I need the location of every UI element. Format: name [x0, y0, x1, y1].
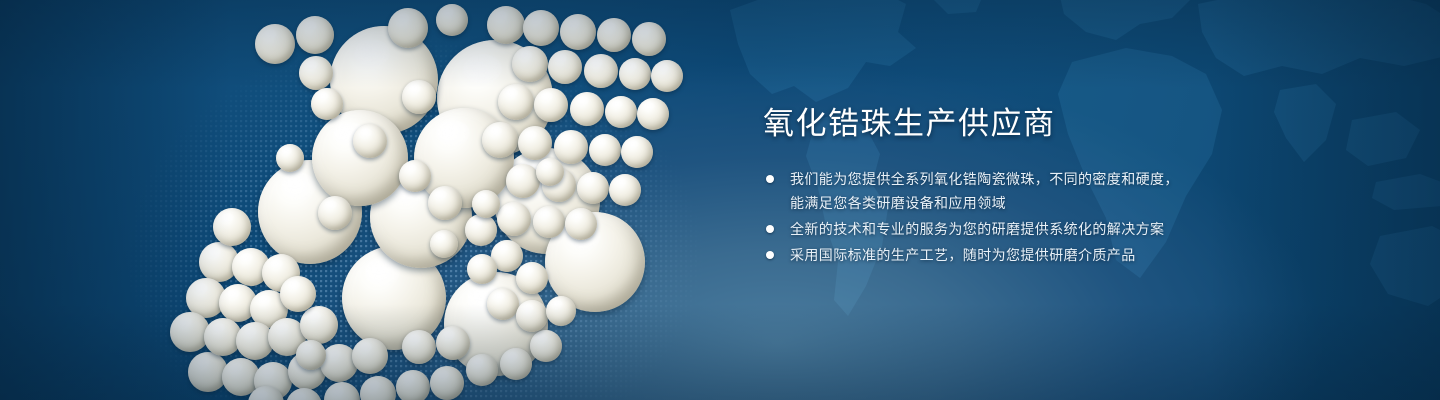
hero-banner: 氧化锆珠生产供应商 我们能为您提供全系列氧化锆陶瓷微珠，不同的密度和硬度，能满足… — [0, 0, 1440, 400]
bullet-dot-icon — [766, 251, 774, 259]
bullet-dot-icon — [766, 175, 774, 183]
feature-list-item: 采用国际标准的生产工艺，随时为您提供研磨介质产品 — [763, 243, 1233, 267]
banner-copy: 氧化锆珠生产供应商 我们能为您提供全系列氧化锆陶瓷微珠，不同的密度和硬度，能满足… — [763, 104, 1233, 269]
feature-text-line-1: 全新的技术和专业的服务为您的研磨提供系统化的解决方案 — [790, 221, 1164, 237]
feature-text-line-1: 采用国际标准的生产工艺，随时为您提供研磨介质产品 — [790, 247, 1136, 263]
feature-list: 我们能为您提供全系列氧化锆陶瓷微珠，不同的密度和硬度，能满足您各类研磨设备和应用… — [763, 167, 1233, 267]
page-title: 氧化锆珠生产供应商 — [763, 104, 1233, 144]
feature-list-item: 全新的技术和专业的服务为您的研磨提供系统化的解决方案 — [763, 217, 1233, 241]
feature-text-line-1: 我们能为您提供全系列氧化锆陶瓷微珠，不同的密度和硬度， — [790, 171, 1179, 187]
feature-list-item: 我们能为您提供全系列氧化锆陶瓷微珠，不同的密度和硬度，能满足您各类研磨设备和应用… — [763, 167, 1233, 215]
feature-text-line-2: 能满足您各类研磨设备和应用领域 — [790, 191, 1233, 215]
bullet-dot-icon — [766, 225, 774, 233]
